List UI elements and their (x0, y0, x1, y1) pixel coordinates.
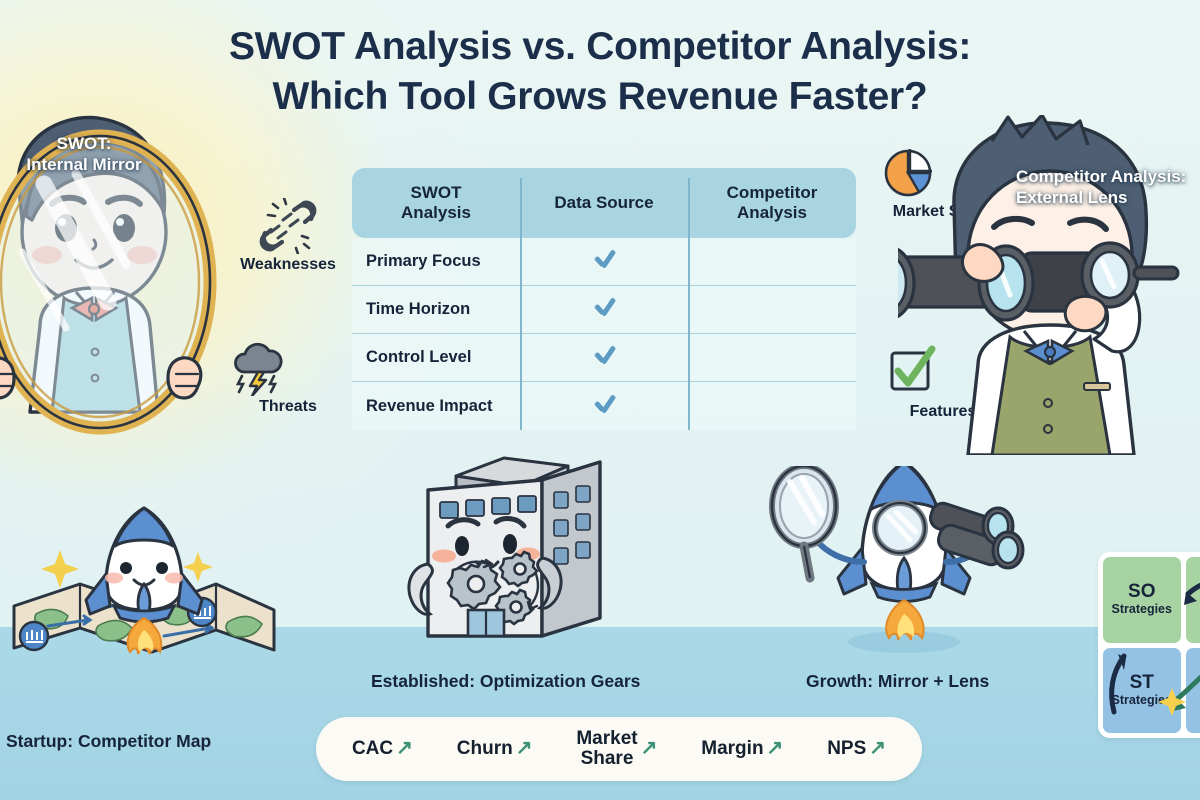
check-icon (593, 248, 615, 270)
growth-rocket-tools-svg (752, 466, 1052, 656)
table-body: Primary Focus Time Horizon Control Level… (352, 238, 856, 430)
growth-caption: Growth: Mirror + Lens (806, 671, 989, 692)
table-row[interactable]: Control Level (352, 334, 856, 382)
metric-margin[interactable]: Margin ↗ (701, 738, 783, 759)
weaknesses-item: Weaknesses (228, 198, 348, 274)
storm-cloud-icon (228, 340, 288, 396)
metric-nps[interactable]: NPS ↗ (827, 738, 886, 759)
column-header-competitor: Competitor Analysis (688, 183, 856, 224)
title-line-1: SWOT Analysis vs. Competitor Analysis: (229, 25, 971, 68)
lens-caption-line-2: External Lens (1016, 188, 1128, 207)
metric-label: CAC (352, 739, 393, 759)
row-label: Revenue Impact (352, 397, 520, 416)
row-data-source-cell (520, 344, 688, 371)
infographic-canvas: SWOT Analysis vs. Competitor Analysis: W… (0, 0, 1200, 800)
trend-up-arrow-icon: ↗ (641, 738, 658, 759)
swot-internal-mirror-illustration: SWOT: Internal Mirror (0, 112, 248, 442)
mirror-caption: SWOT: Internal Mirror (0, 134, 172, 175)
metric-label: NPS (827, 739, 866, 759)
mirror-caption-line-2: Internal Mirror (26, 155, 141, 174)
metric-market-share[interactable]: Market Share ↗ (576, 729, 657, 769)
trend-up-arrow-icon: ↗ (869, 738, 886, 759)
lens-caption: Competitor Analysis: External Lens (1016, 167, 1200, 208)
weaknesses-label: Weaknesses (228, 256, 348, 274)
startup-rocket-map-svg (2, 488, 292, 668)
table-divider-1 (520, 178, 522, 430)
metric-cac[interactable]: CAC ↗ (352, 738, 413, 759)
strategy-abbr: ST (1130, 673, 1154, 694)
established-building-svg (404, 446, 634, 646)
row-data-source-cell (520, 296, 688, 323)
trend-up-arrow-icon: ↗ (396, 738, 413, 759)
strategy-sub: Strategies (1112, 694, 1172, 708)
competitor-external-lens-illustration: Competitor Analysis: External Lens (898, 115, 1200, 455)
startup-caption: Startup: Competitor Map (6, 731, 211, 752)
trend-up-arrow-icon: ↗ (767, 738, 784, 759)
metric-label: Churn (457, 739, 513, 759)
table-row[interactable]: Primary Focus (352, 238, 856, 286)
row-data-source-cell (520, 248, 688, 275)
established-caption: Established: Optimization Gears (371, 671, 640, 692)
row-label: Time Horizon (352, 300, 520, 319)
strategy-sub: Strategies (1112, 603, 1172, 617)
strategy-matrix: SO Strategies S S ST Strategies S S (1098, 552, 1200, 738)
strategy-abbr: SO (1128, 582, 1155, 603)
page-title: SWOT Analysis vs. Competitor Analysis: W… (0, 22, 1200, 122)
comparison-table: SWOT Analysis Data Source Competitor Ana… (352, 168, 856, 430)
lens-caption-line-1: Competitor Analysis: (1016, 167, 1186, 186)
strategy-cell-st-right-cropped[interactable]: S S (1186, 648, 1200, 734)
row-label: Control Level (352, 348, 520, 367)
binocular-character-svg (898, 115, 1200, 455)
threats-label: Threats (228, 398, 348, 416)
strategy-cell-so[interactable]: SO Strategies (1103, 557, 1181, 643)
table-header-row: SWOT Analysis Data Source Competitor Ana… (352, 168, 856, 238)
table-row[interactable]: Time Horizon (352, 286, 856, 334)
mirror-caption-line-1: SWOT: (57, 134, 112, 153)
table-divider-2 (688, 178, 690, 430)
column-header-swot: SWOT Analysis (352, 183, 520, 224)
metric-label: Market Share (576, 729, 637, 769)
check-icon (593, 344, 615, 366)
metrics-bar: CAC ↗ Churn ↗ Market Share ↗ Margin ↗ NP… (316, 717, 922, 781)
strategy-cell-st[interactable]: ST Strategies (1103, 648, 1181, 734)
metric-churn[interactable]: Churn ↗ (457, 738, 533, 759)
threats-item: Threats (228, 340, 348, 416)
strategy-cell-so-right-cropped[interactable]: S S (1186, 557, 1200, 643)
column-header-data-source: Data Source (520, 193, 688, 213)
row-label: Primary Focus (352, 252, 520, 271)
check-icon (593, 393, 615, 415)
row-data-source-cell (520, 393, 688, 420)
check-icon (593, 296, 615, 318)
trend-up-arrow-icon: ↗ (516, 738, 533, 759)
table-row[interactable]: Revenue Impact (352, 382, 856, 430)
broken-chain-icon (228, 198, 348, 254)
metric-label: Margin (701, 739, 763, 759)
